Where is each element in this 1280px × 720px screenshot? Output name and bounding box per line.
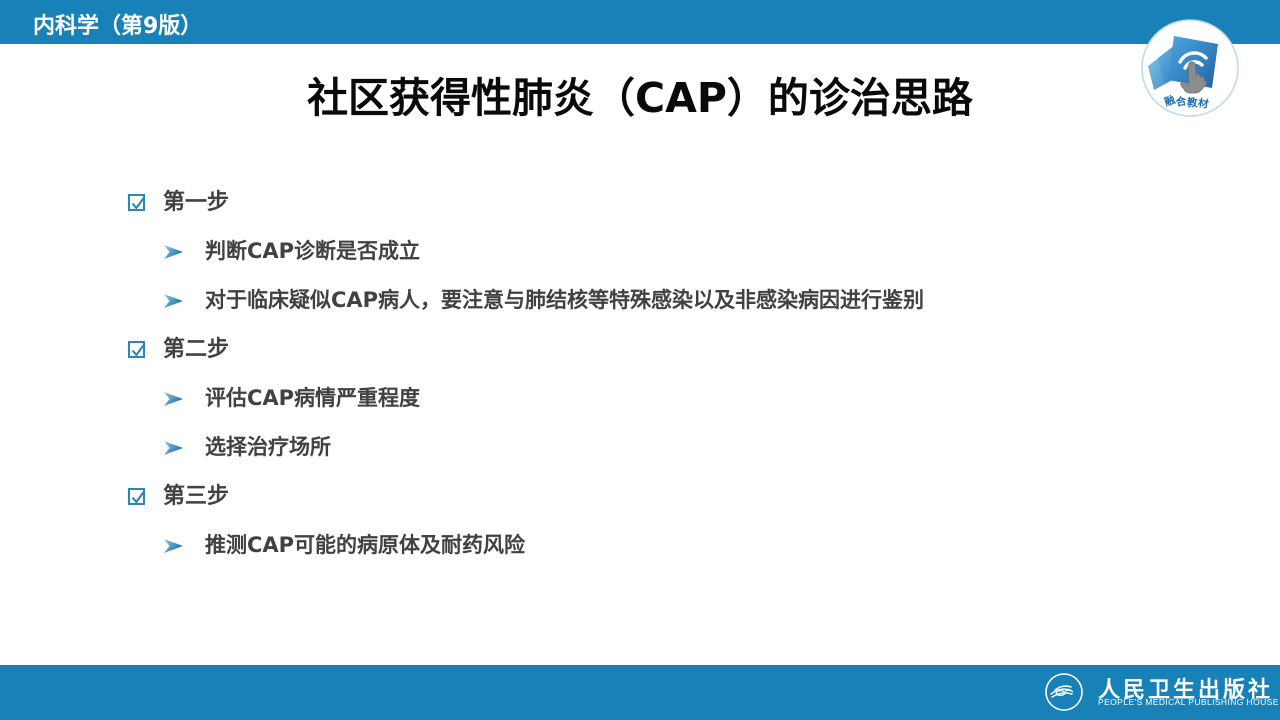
checkbox-checked-icon <box>128 194 145 211</box>
checkbox-checked-icon <box>128 341 145 358</box>
arrow-right-icon <box>163 244 184 260</box>
list-item: 对于临床疑似CAP病人，要注意与肺结核等特殊感染以及非感染病因进行鉴别 <box>0 276 1280 325</box>
list-item-label: 第一步 <box>163 192 229 214</box>
list-item-label: 第三步 <box>163 486 229 508</box>
list-item: 选择治疗场所 <box>0 423 1280 472</box>
list-item: 第一步 <box>0 178 1280 227</box>
checkbox-checked-icon <box>128 488 145 505</box>
list-item: 判断CAP诊断是否成立 <box>0 227 1280 276</box>
list-item-label: 判断CAP诊断是否成立 <box>205 241 420 262</box>
publisher-name-en: PEOPLE'S MEDICAL PUBLISHING HOUSE <box>1098 697 1279 707</box>
list-item: 第三步 <box>0 472 1280 521</box>
list-item-label: 评估CAP病情严重程度 <box>205 388 420 409</box>
bullet-list: 第一步 判断CAP诊断是否成立 对于临床疑似CAP病人，要注意与肺结核等特殊感染… <box>0 178 1280 570</box>
header-title: 内科学（第9版） <box>33 8 202 40</box>
arrow-right-icon <box>163 391 184 407</box>
pmph-wave-circle-icon <box>1042 672 1090 714</box>
arrow-right-icon <box>163 538 184 554</box>
list-item: 第二步 <box>0 325 1280 374</box>
page-title: 社区获得性肺炎（CAP）的诊治思路 <box>0 64 1280 124</box>
arrow-right-icon <box>163 293 184 309</box>
list-item-label: 选择治疗场所 <box>205 437 331 458</box>
list-item: 推测CAP可能的病原体及耐药风险 <box>0 521 1280 570</box>
arrow-right-icon <box>163 440 184 456</box>
list-item-label: 第二步 <box>163 339 229 361</box>
list-item: 评估CAP病情严重程度 <box>0 374 1280 423</box>
list-item-label: 对于临床疑似CAP病人，要注意与肺结核等特殊感染以及非感染病因进行鉴别 <box>205 290 924 311</box>
list-item-label: 推测CAP可能的病原体及耐药风险 <box>205 535 525 556</box>
